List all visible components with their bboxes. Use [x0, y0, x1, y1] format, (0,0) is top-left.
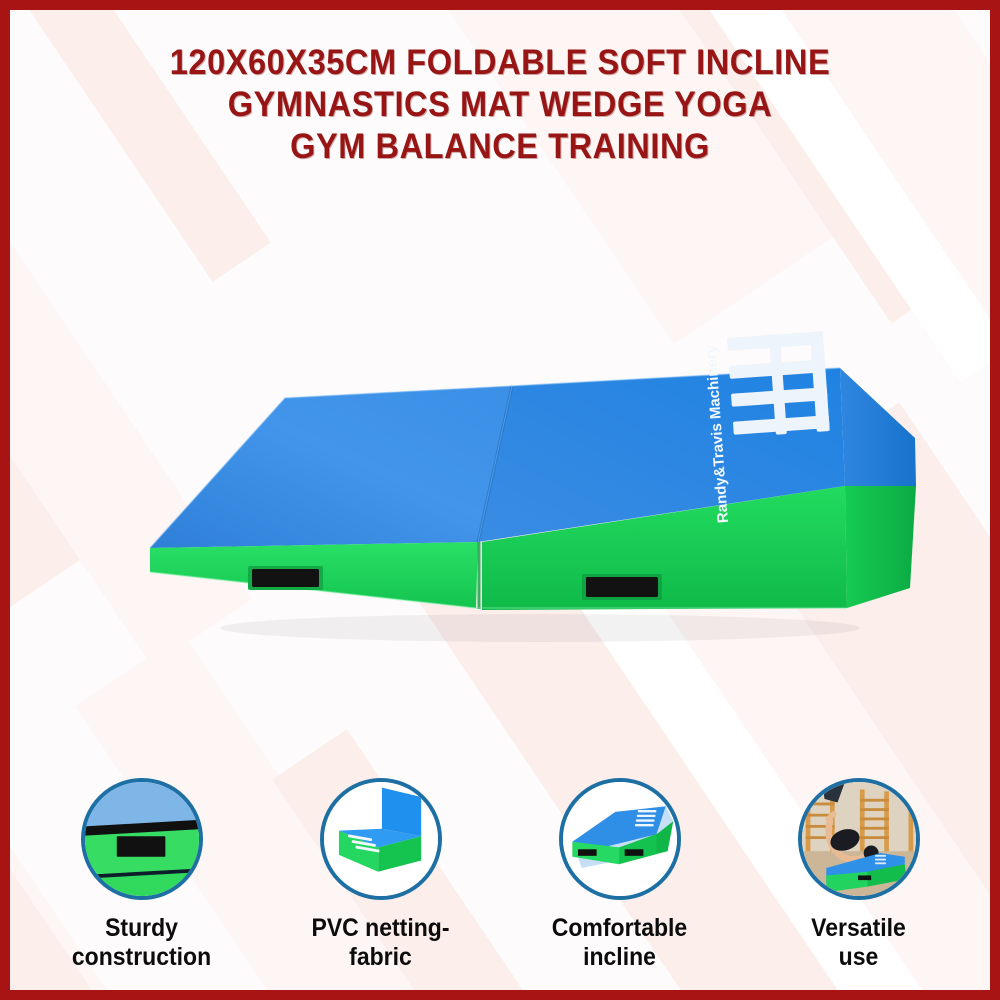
feature-item-versatile-use: Versatile use — [746, 778, 971, 972]
carry-handle-right — [582, 574, 662, 600]
title-line-2: GYMNASTICS MAT WEDGE YOGA — [44, 84, 955, 126]
feature-list: Sturdy construction PVC nettin — [22, 778, 978, 972]
feature-item-pvc-netting-fabric: PVC netting- fabric — [268, 778, 493, 972]
product-hero-image: Randy&Travis Machinery — [110, 290, 910, 670]
mat-end-face-side — [845, 486, 916, 608]
feature-label: Comfortable incline — [516, 914, 723, 972]
feature-label: Sturdy construction — [38, 914, 245, 972]
feature-label: PVC netting- fabric — [277, 914, 484, 972]
pvc-netting-fabric-icon — [320, 778, 442, 900]
title-line-1: 120X60X35CM FOLDABLE SOFT INCLINE — [44, 42, 955, 84]
page-title: 120X60X35CM FOLDABLE SOFT INCLINE GYMNAS… — [44, 42, 955, 168]
feature-item-comfortable-incline: Comfortable incline — [507, 778, 732, 972]
sturdy-construction-icon — [81, 778, 203, 900]
versatile-use-icon — [798, 778, 920, 900]
product-shadow — [220, 614, 860, 642]
mat-panel-left-top — [150, 386, 512, 548]
mat-end-face-top — [840, 368, 916, 486]
carry-handle-left — [248, 566, 323, 590]
comfortable-incline-icon — [559, 778, 681, 900]
title-line-3: GYM BALANCE TRAINING — [44, 126, 955, 168]
product-listing-image: 120X60X35CM FOLDABLE SOFT INCLINE GYMNAS… — [0, 0, 1000, 1000]
feature-item-sturdy-construction: Sturdy construction — [29, 778, 254, 972]
feature-label: Versatile use — [755, 914, 962, 972]
